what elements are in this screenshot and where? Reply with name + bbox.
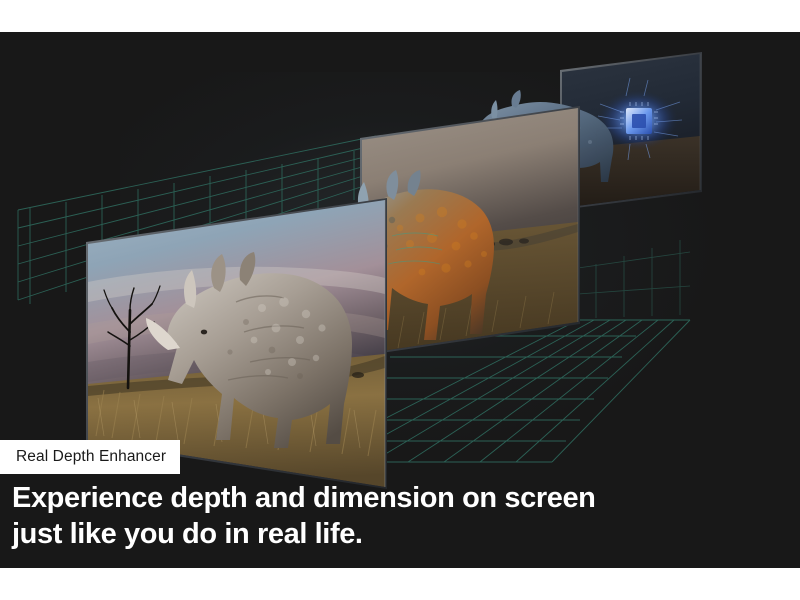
side-grid	[578, 240, 690, 320]
scene-svg	[0, 32, 800, 502]
headline-line-2: just like you do in real life.	[12, 516, 792, 552]
feature-badge: Real Depth Enhancer	[0, 440, 180, 474]
headline-line-1: Experience depth and dimension on screen	[12, 480, 792, 516]
hero-banner: Real Depth Enhancer Experience depth and…	[0, 32, 800, 568]
depth-scene	[0, 32, 800, 502]
screenshot-root: Real Depth Enhancer Experience depth and…	[0, 0, 800, 600]
feature-badge-label: Real Depth Enhancer	[16, 448, 166, 466]
headline: Experience depth and dimension on screen…	[12, 480, 792, 552]
